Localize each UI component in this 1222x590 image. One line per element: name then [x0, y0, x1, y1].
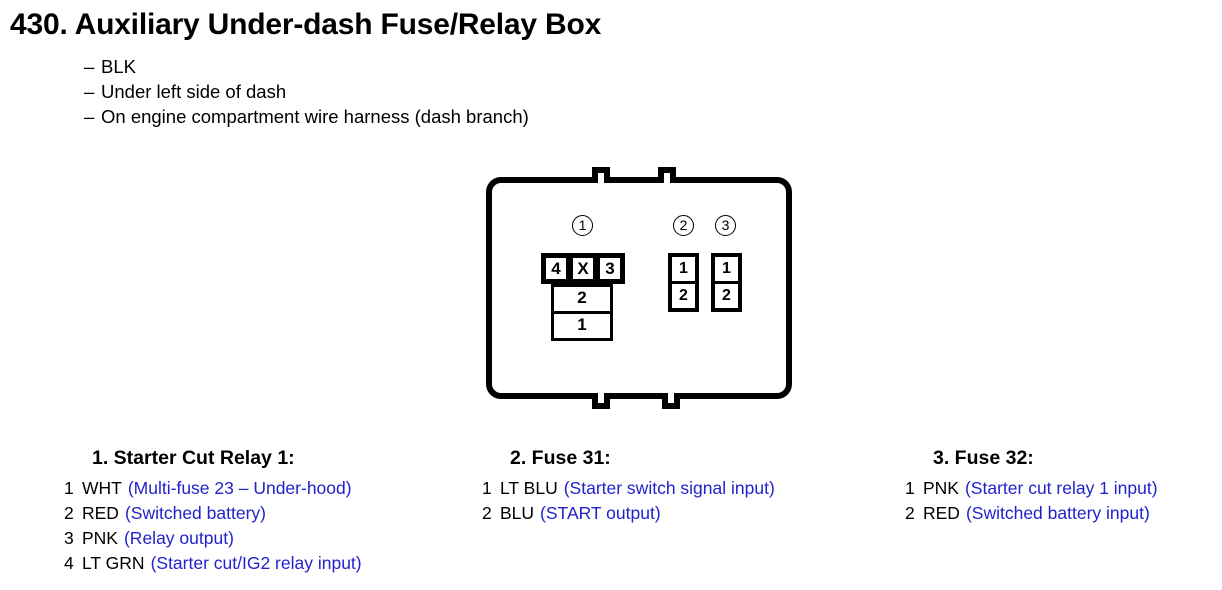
list-item: –BLK [84, 54, 529, 79]
pin-description: (Switched battery input) [966, 501, 1150, 526]
callout-1: 1 [572, 215, 593, 236]
page-title: 430. Auxiliary Under-dash Fuse/Relay Box [10, 8, 601, 42]
pin-number: 1 [482, 476, 500, 501]
note-text: Under left side of dash [101, 81, 286, 102]
list-item: –On engine compartment wire harness (das… [84, 104, 529, 129]
pin-description: (START output) [540, 501, 661, 526]
fuse-31-pin-2: 2 [672, 284, 695, 308]
notes-list: –BLK –Under left side of dash –On engine… [84, 54, 529, 129]
callout-3: 3 [715, 215, 736, 236]
pin-row: 2 RED (Switched battery input) [905, 501, 1158, 526]
fuse-31-pin-1: 1 [672, 257, 695, 281]
legend-heading: 2. Fuse 31: [510, 447, 775, 470]
relay-pin-1: 1 [554, 314, 610, 338]
fuse-32-pin-2: 2 [715, 284, 738, 308]
pin-wire-color: BLU [500, 501, 534, 526]
relay-pin-3: 3 [598, 256, 622, 281]
pin-row: 1 PNK (Starter cut relay 1 input) [905, 476, 1158, 501]
legend-heading: 3. Fuse 32: [933, 447, 1158, 470]
box-housing-outline [485, 160, 800, 410]
pin-wire-color: RED [923, 501, 960, 526]
pin-number: 4 [64, 551, 82, 576]
pin-wire-color: PNK [923, 476, 959, 501]
pin-number: 2 [64, 501, 82, 526]
pin-wire-color: LT BLU [500, 476, 558, 501]
pin-wire-color: LT GRN [82, 551, 145, 576]
pin-wire-color: PNK [82, 526, 118, 551]
pin-description: (Relay output) [124, 526, 234, 551]
pin-number: 2 [482, 501, 500, 526]
fuse-block-31: 1 2 [668, 253, 699, 312]
pin-number: 3 [64, 526, 82, 551]
pin-row: 3 PNK (Relay output) [64, 526, 362, 551]
pin-description: (Starter cut/IG2 relay input) [151, 551, 362, 576]
legend-heading: 1. Starter Cut Relay 1: [92, 447, 362, 470]
bullet-dash-icon: – [84, 79, 101, 104]
relay-pin-4: 4 [544, 256, 568, 281]
note-text: On engine compartment wire harness (dash… [101, 106, 529, 127]
list-item: –Under left side of dash [84, 79, 529, 104]
pin-description: (Starter switch signal input) [564, 476, 775, 501]
legend-starter-cut-relay-1: 1. Starter Cut Relay 1: 1 WHT (Multi-fus… [64, 447, 362, 576]
pin-wire-color: RED [82, 501, 119, 526]
legend-fuse-31: 2. Fuse 31: 1 LT BLU (Starter switch sig… [482, 447, 775, 526]
relay-terminal-1: 4 X 3 2 1 [541, 253, 625, 284]
pin-row: 2 RED (Switched battery) [64, 501, 362, 526]
fuse-32-pin-1: 1 [715, 257, 738, 281]
relay-pin-blank: X [571, 256, 595, 281]
pin-number: 2 [905, 501, 923, 526]
callout-2: 2 [673, 215, 694, 236]
note-text: BLK [101, 56, 136, 77]
pin-number: 1 [905, 476, 923, 501]
pin-number: 1 [64, 476, 82, 501]
pin-row: 4 LT GRN (Starter cut/IG2 relay input) [64, 551, 362, 576]
pin-row: 1 LT BLU (Starter switch signal input) [482, 476, 775, 501]
fuse-relay-box-diagram: 1 2 3 4 X 3 2 1 1 2 1 2 [485, 160, 800, 410]
pin-description: (Multi-fuse 23 – Under-hood) [128, 476, 352, 501]
relay-top-row: 4 X 3 [541, 253, 625, 284]
pin-description: (Switched battery) [125, 501, 266, 526]
pin-row: 2 BLU (START output) [482, 501, 775, 526]
fuse-block-32: 1 2 [711, 253, 742, 312]
pin-description: (Starter cut relay 1 input) [965, 476, 1158, 501]
pin-wire-color: WHT [82, 476, 122, 501]
relay-lower-stack: 2 1 [551, 284, 613, 341]
legend-fuse-32: 3. Fuse 32: 1 PNK (Starter cut relay 1 i… [905, 447, 1158, 526]
relay-pin-2: 2 [554, 287, 610, 311]
pin-row: 1 WHT (Multi-fuse 23 – Under-hood) [64, 476, 362, 501]
bullet-dash-icon: – [84, 54, 101, 79]
bullet-dash-icon: – [84, 104, 101, 129]
